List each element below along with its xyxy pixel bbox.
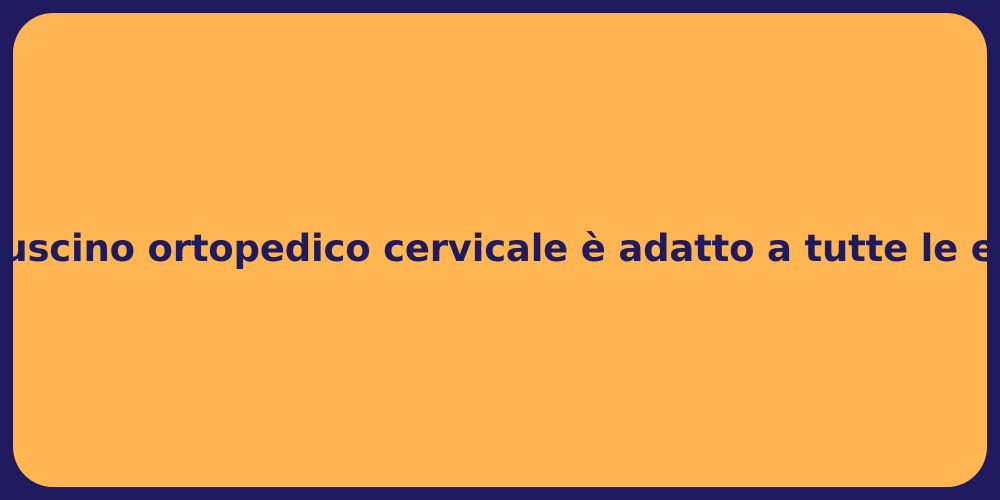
- screenshot-root: Il cuscino ortopedico cervicale è adatto…: [0, 0, 1000, 500]
- headline-card: Il cuscino ortopedico cervicale è adatto…: [13, 13, 987, 487]
- page-title: Il cuscino ortopedico cervicale è adatto…: [0, 226, 1000, 272]
